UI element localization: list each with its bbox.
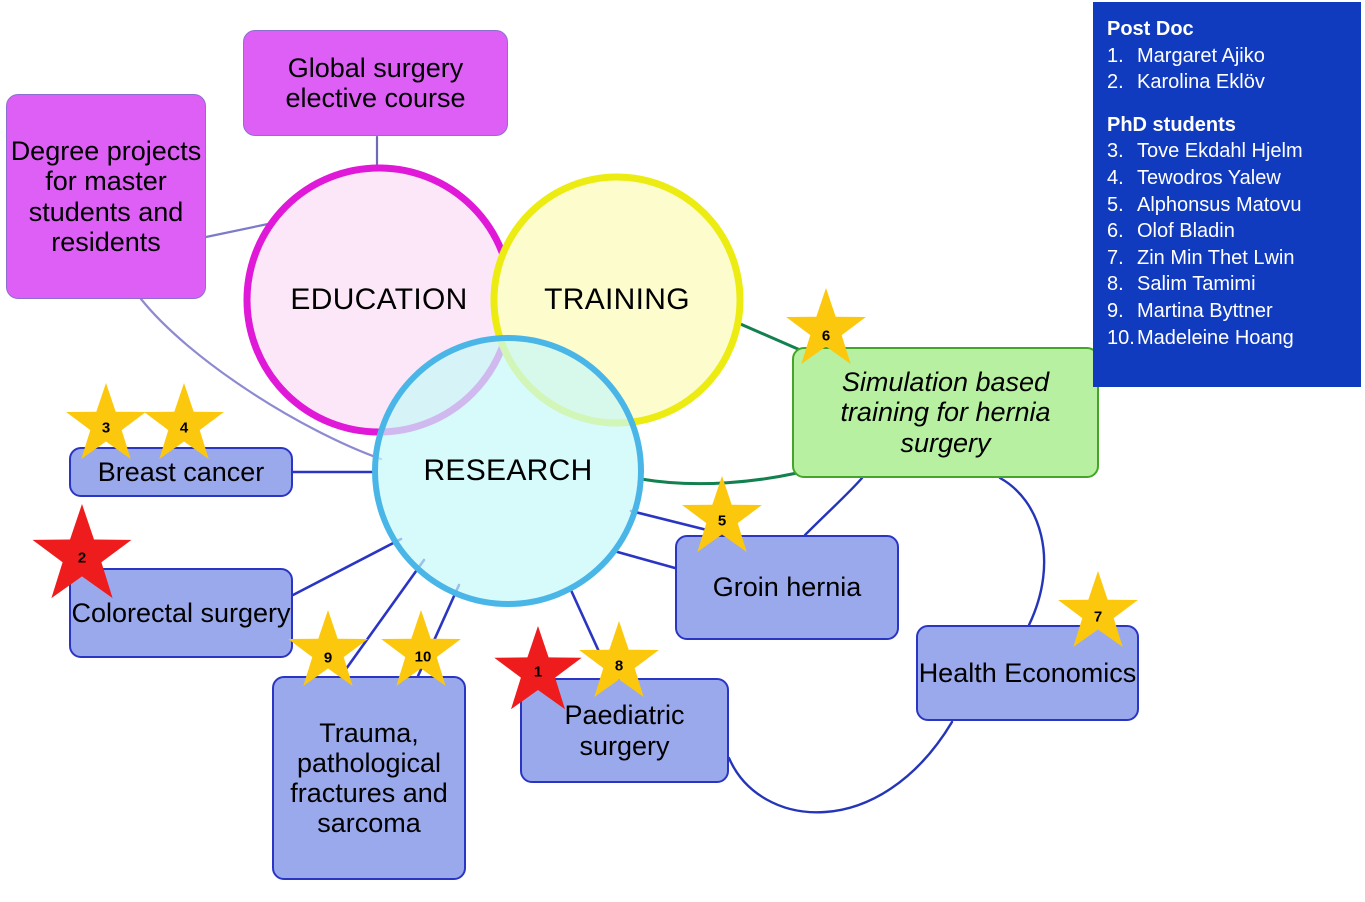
legend-row-name: Martina Byttner: [1137, 298, 1273, 325]
legend-postdoc-list: 1.Margaret Ajiko2.Karolina Eklöv: [1107, 43, 1351, 96]
legend-row-number: 10.: [1107, 325, 1137, 352]
star-marker-9: [288, 610, 368, 686]
legend-row-name: Zin Min Thet Lwin: [1137, 245, 1294, 272]
star-number-3: 3: [102, 420, 110, 437]
legend-row: 3.Tove Ekdahl Hjelm: [1107, 138, 1351, 165]
legend-heading-postdoc: Post Doc: [1107, 16, 1351, 43]
star-number-4: 4: [180, 420, 188, 437]
star-number-10: 10: [415, 649, 432, 666]
diagram-canvas: Degree projects for master students and …: [0, 0, 1365, 902]
star-marker-6: [786, 288, 866, 364]
star-number-2: 2: [78, 550, 86, 567]
legend-row-number: 1.: [1107, 43, 1137, 70]
legend-row: 7.Zin Min Thet Lwin: [1107, 245, 1351, 272]
legend-row-number: 9.: [1107, 298, 1137, 325]
legend-row-name: Salim Tamimi: [1137, 271, 1256, 298]
star-number-1: 1: [534, 664, 542, 681]
legend-row-name: Karolina Eklöv: [1137, 69, 1265, 96]
people-legend: Post Doc 1.Margaret Ajiko2.Karolina Eklö…: [1093, 2, 1361, 387]
legend-row-number: 7.: [1107, 245, 1137, 272]
legend-row: 1.Margaret Ajiko: [1107, 43, 1351, 70]
legend-row: 10.Madeleine Hoang: [1107, 325, 1351, 352]
legend-row-number: 5.: [1107, 192, 1137, 219]
legend-row-number: 3.: [1107, 138, 1137, 165]
legend-row: 2.Karolina Eklöv: [1107, 69, 1351, 96]
legend-spacer: [1107, 96, 1351, 112]
legend-row: 6.Olof Bladin: [1107, 218, 1351, 245]
legend-row-name: Tewodros Yalew: [1137, 165, 1281, 192]
legend-row-name: Madeleine Hoang: [1137, 325, 1294, 352]
legend-row: 8.Salim Tamimi: [1107, 271, 1351, 298]
legend-row: 5.Alphonsus Matovu: [1107, 192, 1351, 219]
star-number-5: 5: [718, 513, 726, 530]
legend-phd-list: 3.Tove Ekdahl Hjelm4.Tewodros Yalew5.Alp…: [1107, 138, 1351, 351]
legend-heading-phd: PhD students: [1107, 112, 1351, 139]
legend-row: 9.Martina Byttner: [1107, 298, 1351, 325]
legend-row-number: 2.: [1107, 69, 1137, 96]
legend-row: 4.Tewodros Yalew: [1107, 165, 1351, 192]
star-number-9: 9: [324, 650, 332, 667]
legend-row-number: 6.: [1107, 218, 1137, 245]
star-number-6: 6: [822, 328, 830, 345]
star-number-7: 7: [1094, 609, 1102, 626]
star-number-8: 8: [615, 658, 623, 675]
legend-row-name: Olof Bladin: [1137, 218, 1235, 245]
legend-row-name: Tove Ekdahl Hjelm: [1137, 138, 1303, 165]
legend-row-name: Alphonsus Matovu: [1137, 192, 1302, 219]
legend-row-number: 8.: [1107, 271, 1137, 298]
legend-row-name: Margaret Ajiko: [1137, 43, 1265, 70]
legend-row-number: 4.: [1107, 165, 1137, 192]
